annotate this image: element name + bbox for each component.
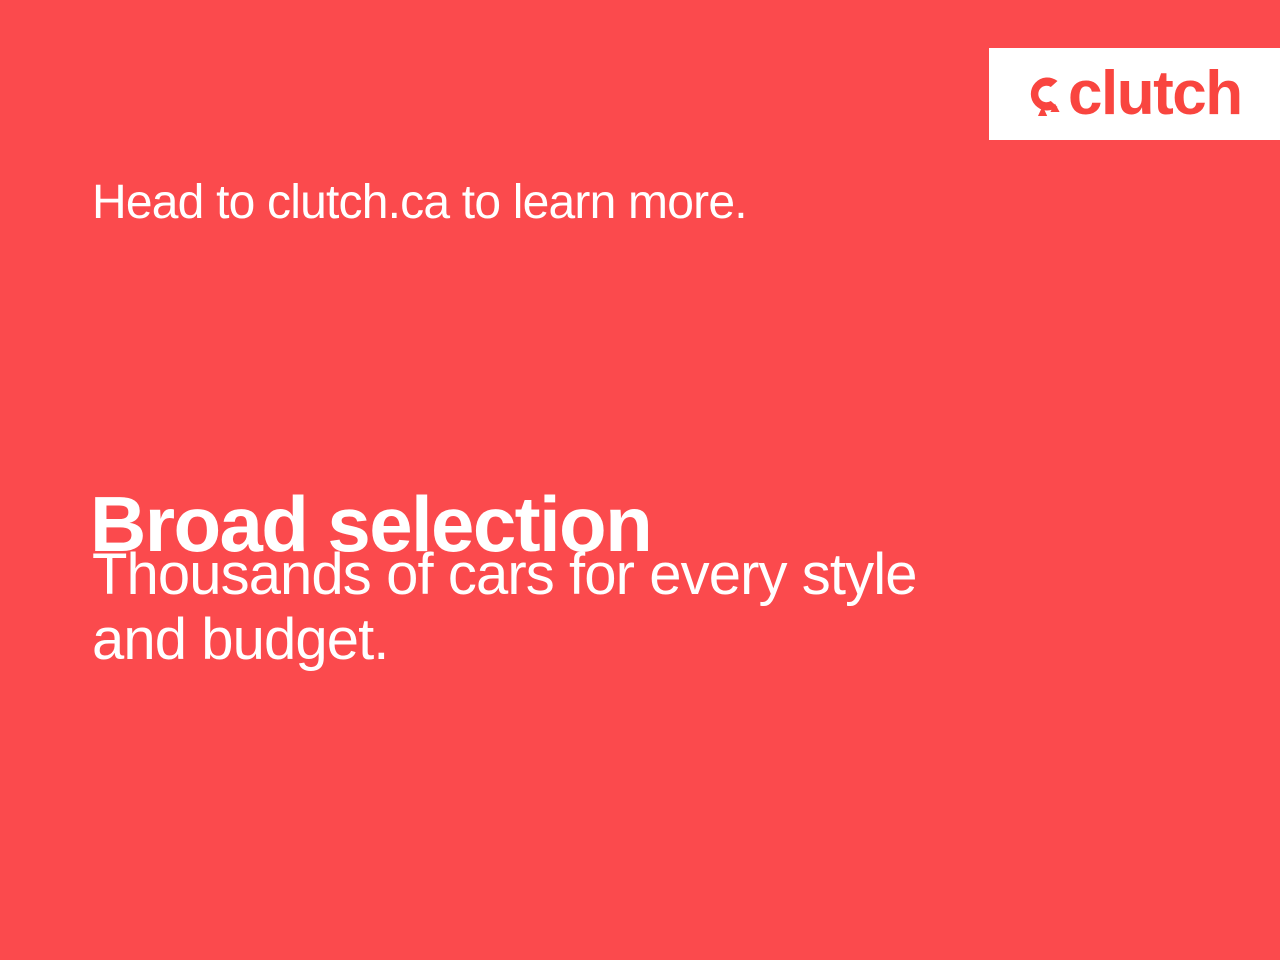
subhead-text: Thousands of cars for every style and bu… [92, 543, 917, 673]
subhead-line-1: Thousands of cars for every style [92, 543, 917, 608]
brand-logo-lockup[interactable]: clutch [1022, 63, 1242, 125]
promo-slide: clutch Head to clutch.ca to learn more. … [0, 0, 1280, 960]
brand-logo-plate[interactable]: clutch [989, 48, 1280, 140]
brand-wordmark: clutch [1068, 63, 1242, 125]
clutch-c-mark-icon [1022, 70, 1066, 118]
subhead-line-2: and budget. [92, 608, 917, 673]
eyebrow-text: Head to clutch.ca to learn more. [92, 178, 747, 228]
